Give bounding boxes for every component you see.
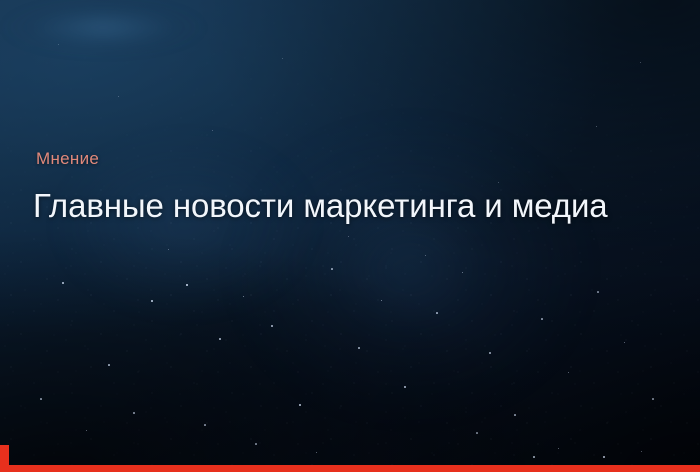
- slide-canvas: Мнение Главные новости маркетинга и меди…: [0, 0, 700, 472]
- kicker-label: Мнение: [36, 150, 608, 167]
- slide-text-block: Мнение Главные новости маркетинга и меди…: [33, 150, 608, 224]
- page-title: Главные новости маркетинга и медиа: [33, 189, 608, 224]
- red-accent-bar-bottom: [0, 465, 700, 472]
